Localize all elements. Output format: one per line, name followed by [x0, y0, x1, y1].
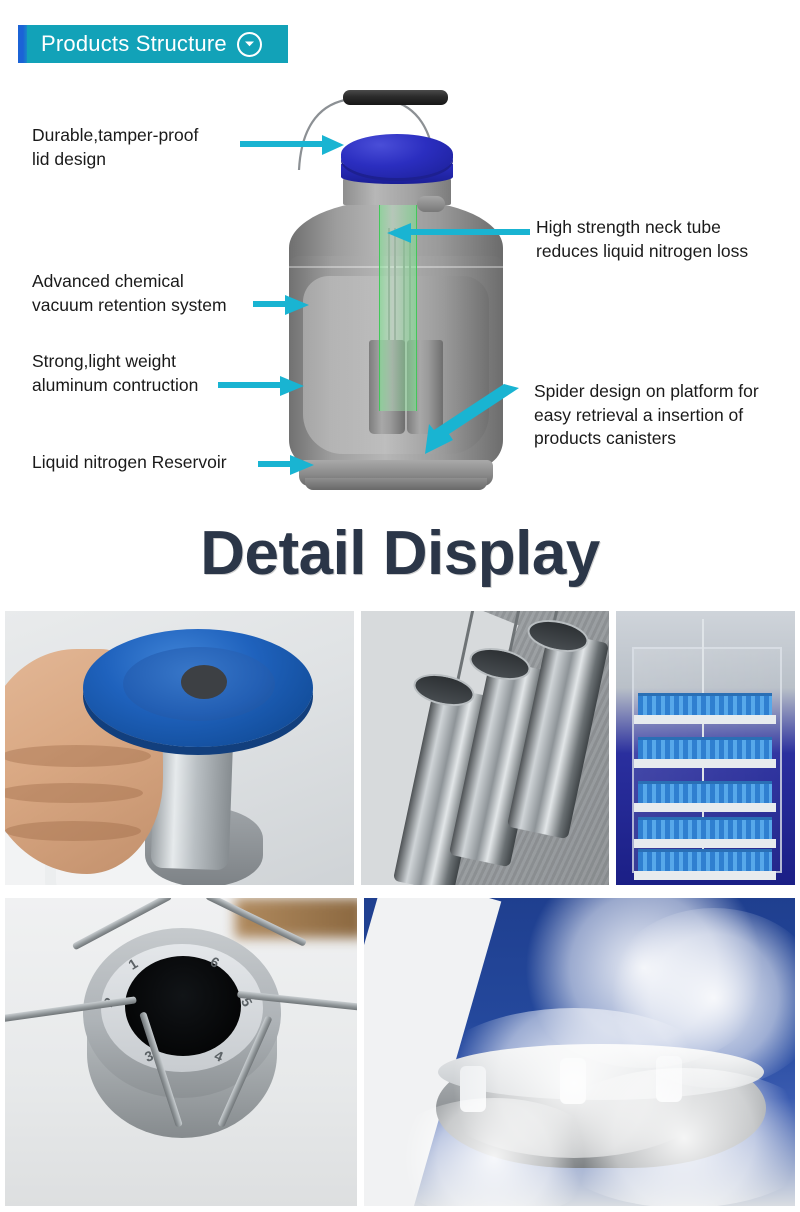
- arrow-to-neck-tube-icon: [385, 220, 530, 246]
- structure-diagram: Durable,tamper-proof lid design Advanced…: [0, 70, 800, 505]
- arrow-to-spider-icon: [415, 382, 525, 462]
- chevron-down-circle-icon[interactable]: [237, 32, 262, 57]
- nitrogen-vapor: [384, 1098, 604, 1206]
- photo-lid-in-hand[interactable]: [5, 611, 354, 885]
- detail-display-heading: Detail Display: [0, 518, 800, 589]
- rack-shelf: [634, 839, 776, 848]
- arrow-to-aluminum-icon: [218, 373, 308, 399]
- callout-line: reduces liquid nitrogen loss: [536, 240, 796, 264]
- lid-center-hole: [181, 665, 227, 699]
- callout-line: Durable,tamper-proof: [32, 124, 247, 148]
- photo-row-2: 1 6 2 5 3 4: [5, 898, 795, 1206]
- rack-shelf: [634, 803, 776, 812]
- photo-spider-platform[interactable]: 1 6 2 5 3 4: [5, 898, 357, 1206]
- callout-lid-design: Durable,tamper-proof lid design: [32, 124, 247, 171]
- photo-canisters[interactable]: [361, 611, 609, 885]
- callout-liquid-nitrogen-reservoir: Liquid nitrogen Reservoir: [32, 451, 282, 475]
- section-title: Products Structure: [41, 31, 227, 57]
- section-header-banner: Products Structure: [18, 25, 288, 63]
- finger-crease: [5, 821, 141, 841]
- tank-handle-bar: [343, 90, 448, 105]
- banner-accent-bar: [18, 25, 27, 63]
- photo-content: 1 6 2 5 3 4: [5, 898, 357, 1206]
- callout-line: lid design: [32, 148, 247, 172]
- finger-crease: [5, 783, 143, 803]
- photo-content: [361, 611, 609, 885]
- detail-photo-grid: 1 6 2 5 3 4: [5, 611, 795, 1206]
- callout-vacuum-retention: Advanced chemical vacuum retention syste…: [32, 270, 277, 317]
- rack-shelf: [634, 759, 776, 768]
- tank-side-lug: [417, 196, 445, 212]
- callout-line: Spider design on platform for: [534, 380, 800, 404]
- tank-lid: [341, 134, 453, 178]
- rack-shelf: [634, 715, 776, 724]
- product-infographic-page: Products Structure: [0, 0, 800, 1212]
- photo-content: [5, 611, 354, 885]
- tank-base-foot: [305, 478, 487, 490]
- callout-line: easy retrieval a insertion of: [534, 404, 800, 428]
- callout-line: vacuum retention system: [32, 294, 277, 318]
- arrow-to-lid-icon: [240, 132, 350, 158]
- rack-shelf: [634, 871, 776, 880]
- callout-neck-tube: High strength neck tube reduces liquid n…: [536, 216, 796, 263]
- arrow-to-reservoir-icon: [258, 452, 318, 478]
- stainless-neck-plug: [151, 728, 234, 871]
- callout-spider-design: Spider design on platform for easy retri…: [534, 380, 800, 451]
- neck-opening: [125, 956, 241, 1056]
- callout-line: High strength neck tube: [536, 216, 796, 240]
- finger-crease: [5, 745, 151, 767]
- callout-line: products canisters: [534, 427, 800, 451]
- photo-rack-boxes[interactable]: [616, 611, 795, 885]
- photo-content: [616, 611, 795, 885]
- callout-line: Strong,light weight: [32, 350, 267, 374]
- callout-line: Advanced chemical: [32, 270, 277, 294]
- arrow-to-vacuum-icon: [253, 292, 313, 318]
- photo-row-1: [5, 611, 795, 885]
- callout-line: Liquid nitrogen Reservoir: [32, 451, 282, 475]
- photo-nitrogen-vapor[interactable]: [364, 898, 795, 1206]
- photo-content: [364, 898, 795, 1206]
